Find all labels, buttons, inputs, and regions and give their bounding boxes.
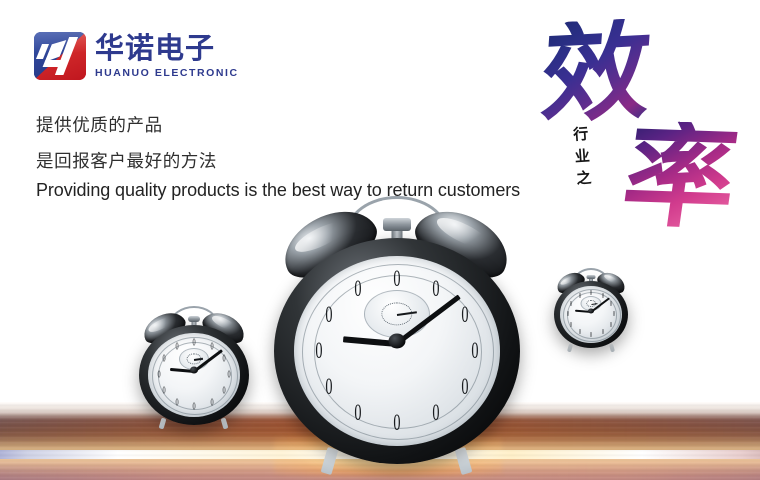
clock-foot-left bbox=[159, 418, 167, 430]
clock-hour-numeral: 0 bbox=[210, 342, 213, 353]
brand-name-en: HUANUO ELECTRONIC bbox=[95, 68, 239, 79]
clock-hour-numeral: 0 bbox=[610, 300, 612, 308]
twin-bell-alarm-clock-large: 000000000000 bbox=[268, 196, 526, 480]
clock-hour-numeral: 0 bbox=[192, 402, 195, 413]
clock-foot-right bbox=[221, 418, 229, 430]
clock-hour-numeral: 0 bbox=[175, 397, 178, 408]
clock-subdial-hand bbox=[194, 358, 203, 361]
clock-hour-numeral: 0 bbox=[157, 370, 160, 381]
clock-subdial-hand bbox=[397, 311, 417, 316]
brand-logo[interactable]: 华诺电子 HUANUO ELECTRONIC bbox=[34, 32, 239, 80]
clock-hour-numeral: 0 bbox=[223, 354, 226, 365]
clock-hour-numeral: 0 bbox=[175, 342, 178, 353]
clock-hour-numeral: 0 bbox=[162, 354, 165, 365]
clock-hour-numeral: 0 bbox=[192, 338, 195, 349]
clock-foot-left bbox=[321, 447, 339, 475]
clock-hour-numeral: 0 bbox=[162, 386, 165, 397]
clock-hour-numeral: 0 bbox=[326, 374, 333, 400]
clock-winder-knob-icon bbox=[383, 218, 411, 231]
clock-hour-numeral: 0 bbox=[393, 410, 400, 436]
clock-hour-numeral: 0 bbox=[227, 370, 230, 381]
clock-hour-numeral: 0 bbox=[570, 300, 572, 308]
clock-hour-numeral: 0 bbox=[590, 331, 592, 339]
clock-winder-knob-icon bbox=[188, 316, 200, 322]
clock-hour-numeral: 0 bbox=[393, 266, 400, 292]
clock-hour-numeral: 0 bbox=[567, 310, 569, 318]
clock-foot-left bbox=[567, 344, 573, 353]
twin-bell-alarm-clock-small: 000000000000 bbox=[552, 268, 630, 354]
clock-hour-numeral: 0 bbox=[471, 338, 478, 364]
clock-foot-right bbox=[455, 447, 473, 475]
twin-bell-alarm-clock-medium: 000000000000 bbox=[136, 306, 252, 434]
clock-hour-numeral: 0 bbox=[610, 321, 612, 329]
tagline-cn-line-1: 提供优质的产品 bbox=[36, 112, 163, 137]
clock-hour-numeral: 0 bbox=[326, 302, 333, 328]
clock-center-pin bbox=[588, 309, 594, 314]
clock-subdial-hand bbox=[591, 303, 597, 305]
clock-hour-numeral: 0 bbox=[315, 338, 322, 364]
clock-hour-numeral: 0 bbox=[570, 321, 572, 329]
clock-hour-numeral: 0 bbox=[601, 292, 603, 300]
brand-name-cn: 华诺电子 bbox=[95, 34, 239, 63]
clock-hour-numeral: 0 bbox=[613, 310, 615, 318]
clock-winder-knob-icon bbox=[587, 275, 596, 279]
tagline-cn-line-2: 是回报客户最好的方法 bbox=[36, 148, 217, 173]
logo-slash-4 bbox=[43, 60, 68, 67]
promo-banner: 华诺电子 HUANUO ELECTRONIC 提供优质的产品 是回报客户最好的方… bbox=[0, 0, 760, 480]
logo-gloss bbox=[34, 32, 86, 53]
clock-subdial bbox=[364, 290, 430, 338]
calligraphy-char-lv: 率 bbox=[616, 120, 743, 236]
clock-hour-numeral: 0 bbox=[578, 328, 580, 336]
brand-wordmark: 华诺电子 HUANUO ELECTRONIC bbox=[95, 34, 239, 79]
clock-center-pin bbox=[190, 367, 198, 374]
clock-foot-right bbox=[609, 344, 615, 353]
clock-hour-numeral: 0 bbox=[432, 400, 439, 426]
clock-hour-numeral: 0 bbox=[461, 302, 468, 328]
clock-hour-numeral: 0 bbox=[354, 276, 361, 302]
clock-center-pin bbox=[389, 334, 406, 349]
clock-hour-numeral: 0 bbox=[461, 374, 468, 400]
clock-hour-numeral: 0 bbox=[354, 400, 361, 426]
clock-hour-numeral: 0 bbox=[432, 276, 439, 302]
clock-hour-numeral: 0 bbox=[601, 328, 603, 336]
calligraphy-artwork: 效 率 行业之 bbox=[532, 18, 758, 238]
calligraphy-vertical-text: 行业之 bbox=[570, 125, 596, 192]
clock-hour-numeral: 0 bbox=[578, 292, 580, 300]
clock-hour-numeral: 0 bbox=[210, 397, 213, 408]
huanuo-h-monogram-icon bbox=[34, 32, 86, 80]
clock-hour-numeral: 0 bbox=[223, 386, 226, 397]
